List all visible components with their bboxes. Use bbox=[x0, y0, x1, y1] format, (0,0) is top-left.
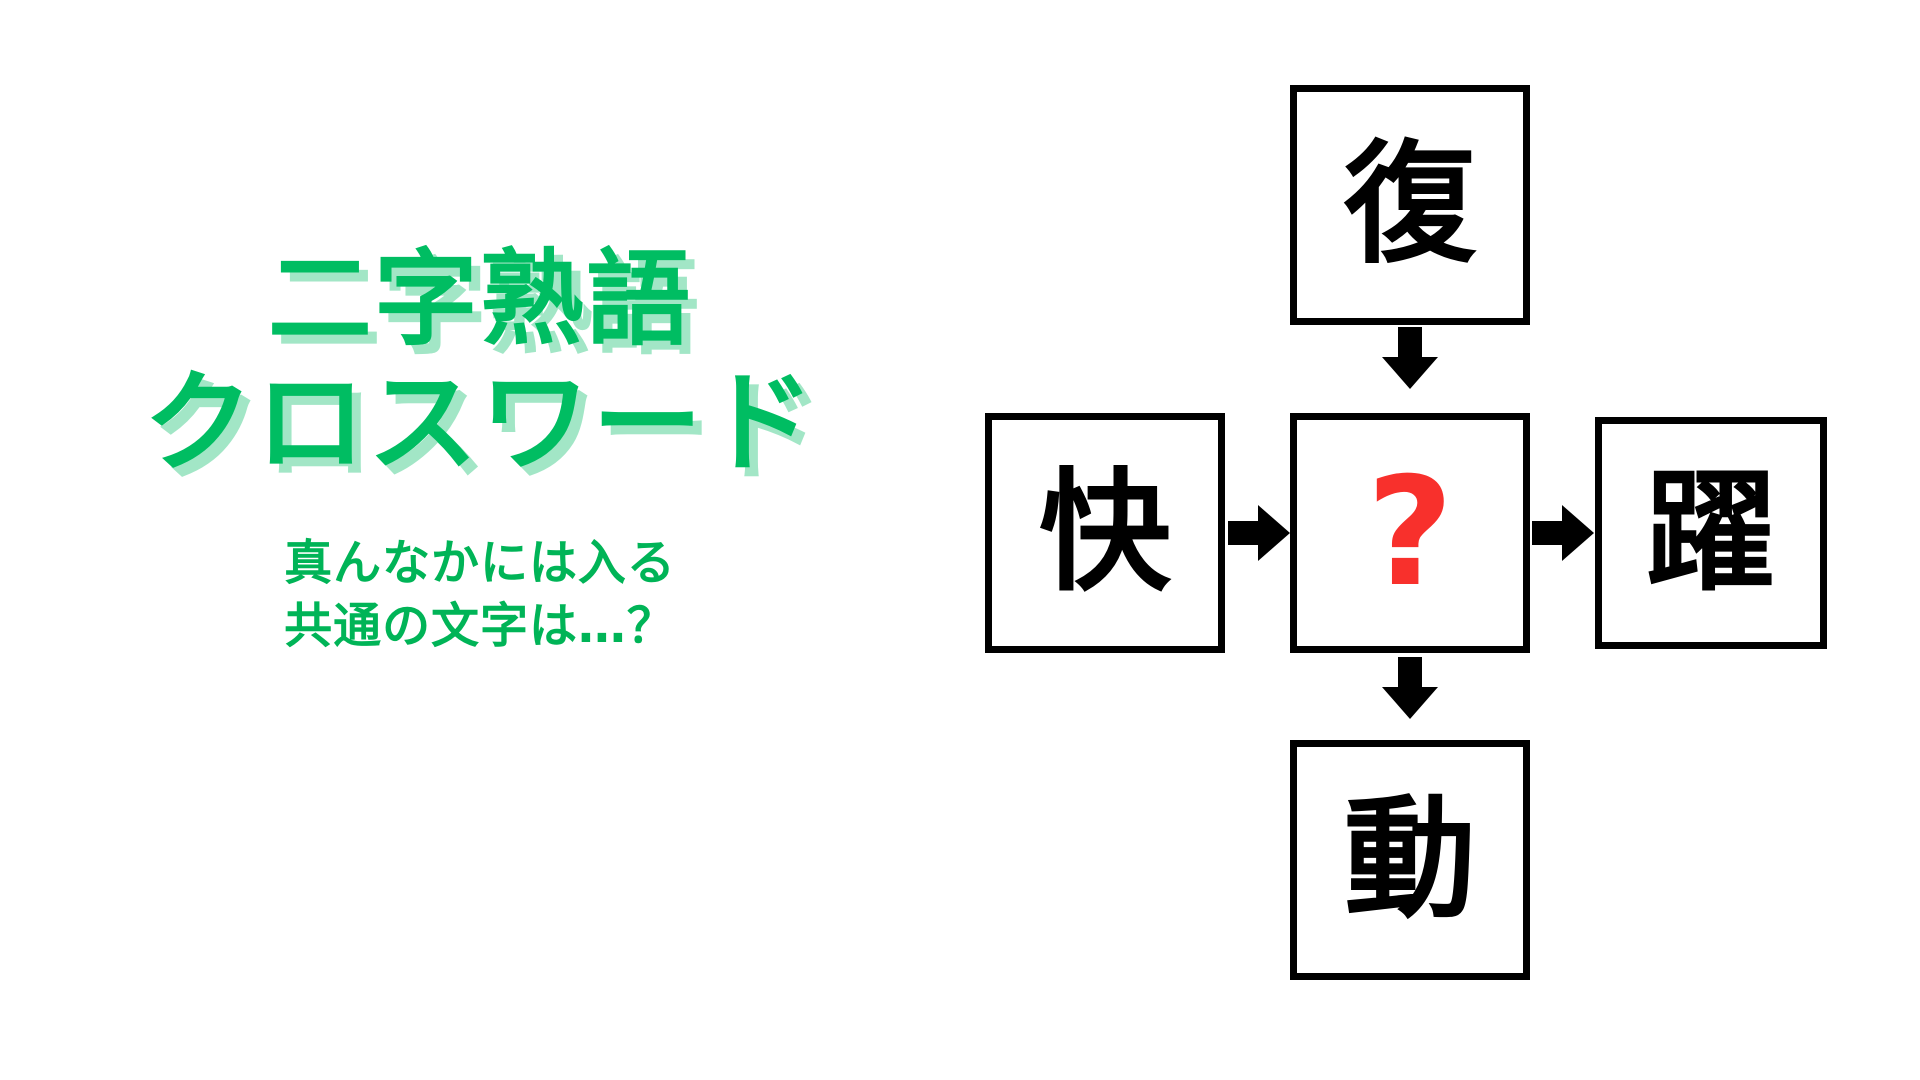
arrow-head bbox=[1382, 357, 1438, 389]
arrow-right-icon-left-to-center bbox=[1228, 505, 1290, 561]
arrow-head bbox=[1382, 687, 1438, 719]
arrow-shaft bbox=[1228, 521, 1260, 545]
arrow-head bbox=[1258, 505, 1290, 561]
subtitle-block: 真んなかには入る 共通の文字は…？ bbox=[0, 532, 960, 659]
arrow-right-icon-center-to-right bbox=[1532, 505, 1594, 561]
poster-canvas: 二字熟語 クロスワード 真んなかには入る 共通の文字は…？ 復 快 ? 躍 動 bbox=[0, 0, 1920, 1080]
crossword-diagram: 復 快 ? 躍 動 bbox=[960, 0, 1920, 1080]
arrow-down-icon-top-to-center bbox=[1382, 327, 1438, 389]
kanji-glyph-right: 躍 bbox=[1645, 467, 1777, 599]
page-title-line-2: クロスワード bbox=[0, 361, 960, 486]
kanji-glyph-bottom: 動 bbox=[1344, 794, 1476, 926]
puzzle-cell-left[interactable]: 快 bbox=[985, 413, 1225, 653]
question-mark-glyph: ? bbox=[1366, 458, 1453, 608]
subtitle-line-1: 真んなかには入る bbox=[0, 532, 960, 595]
arrow-shaft bbox=[1532, 521, 1564, 545]
arrow-shaft bbox=[1398, 657, 1422, 689]
puzzle-cell-top[interactable]: 復 bbox=[1290, 85, 1530, 325]
title-block: 二字熟語 クロスワード 真んなかには入る 共通の文字は…？ bbox=[0, 240, 960, 659]
kanji-glyph-left: 快 bbox=[1039, 467, 1171, 599]
kanji-glyph-top: 復 bbox=[1344, 139, 1476, 271]
arrow-head bbox=[1562, 505, 1594, 561]
puzzle-cell-right[interactable]: 躍 bbox=[1595, 417, 1827, 649]
puzzle-cell-bottom[interactable]: 動 bbox=[1290, 740, 1530, 980]
arrow-shaft bbox=[1398, 327, 1422, 359]
arrow-down-icon-center-to-bottom bbox=[1382, 657, 1438, 719]
subtitle-line-2: 共通の文字は…？ bbox=[0, 595, 960, 658]
puzzle-cell-center-answer[interactable]: ? bbox=[1290, 413, 1530, 653]
page-title-line-1: 二字熟語 bbox=[0, 240, 960, 359]
